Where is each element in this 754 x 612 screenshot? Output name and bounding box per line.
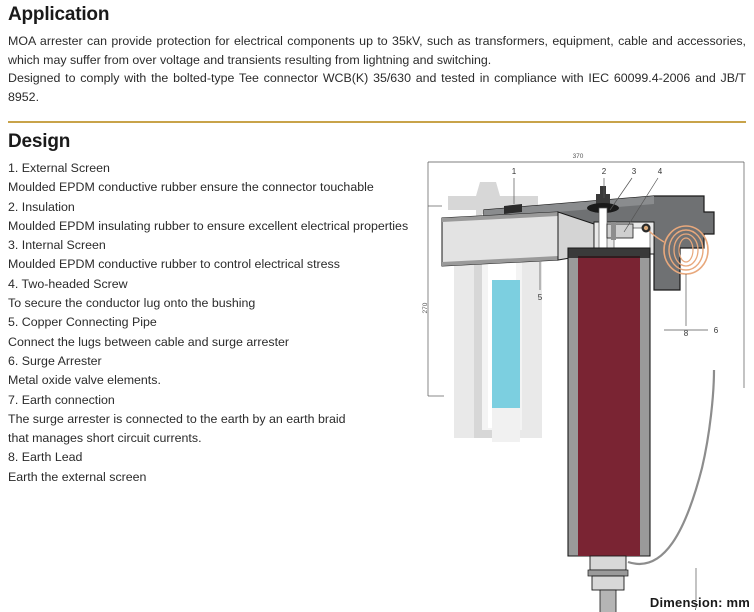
earth-stud: [588, 556, 628, 612]
dimension-overall-height: 270: [422, 206, 444, 396]
design-item-desc-4: To secure the conductor lug onto the bus…: [8, 294, 428, 313]
design-item-desc-2: Moulded EPDM insulating rubber to ensure…: [8, 217, 416, 236]
dimension-unit-caption: Dimension: mm: [650, 595, 750, 610]
surge-arrester-body: [568, 248, 650, 556]
design-item-title-1: 1. External Screen: [8, 159, 428, 178]
design-item-desc-6: Metal oxide valve elements.: [8, 371, 428, 390]
conductor-core: [492, 280, 520, 408]
design-item-title-5: 5. Copper Connecting Pipe: [8, 313, 428, 332]
design-item-title-6: 6. Surge Arrester: [8, 352, 428, 371]
arrester-cross-section-svg: 370 270: [418, 138, 754, 612]
callout-label-1: 1: [512, 167, 517, 176]
section-divider: [8, 121, 746, 123]
design-item-title-4: 4. Two-headed Screw: [8, 275, 428, 294]
application-heading: Application: [8, 4, 746, 26]
design-item-title-3: 3. Internal Screen: [8, 236, 428, 255]
design-item-title-2: 2. Insulation: [8, 198, 428, 217]
datasheet-page: Application MOA arrester can provide pro…: [0, 0, 754, 612]
callout-label-6: 6: [714, 326, 719, 335]
callout-label-5: 5: [538, 293, 543, 302]
callout-label-2: 2: [602, 167, 607, 176]
design-item-list: 1. External Screen Moulded EPDM conducti…: [8, 159, 428, 487]
application-section: Application MOA arrester can provide pro…: [8, 4, 746, 106]
design-item-desc-5: Connect the lugs between cable and surge…: [8, 333, 428, 352]
application-paragraph-2: Designed to comply with the bolted-type …: [8, 69, 746, 106]
design-item-desc-7: The surge arrester is connected to the e…: [8, 410, 360, 449]
design-section: Design 1. External Screen Moulded EPDM c…: [8, 131, 438, 487]
technical-drawing: 370 270: [418, 138, 754, 612]
metal-oxide-element: [578, 256, 640, 556]
application-body: MOA arrester can provide protection for …: [8, 32, 746, 106]
design-heading: Design: [8, 131, 438, 153]
design-item-desc-8: Earth the external screen: [8, 468, 428, 487]
design-item-desc-1: Moulded EPDM conductive rubber ensure th…: [8, 178, 428, 197]
callout-label-8: 8: [684, 329, 689, 338]
dimension-width-label: 370: [573, 153, 584, 160]
design-item-title-8: 8. Earth Lead: [8, 448, 428, 467]
design-item-desc-3: Moulded EPDM conductive rubber to contro…: [8, 255, 428, 274]
design-item-title-7: 7. Earth connection: [8, 391, 428, 410]
callout-label-4: 4: [658, 167, 663, 176]
application-paragraph-1: MOA arrester can provide protection for …: [8, 32, 746, 69]
callout-label-3: 3: [632, 167, 637, 176]
dimension-height-label: 270: [422, 302, 429, 313]
